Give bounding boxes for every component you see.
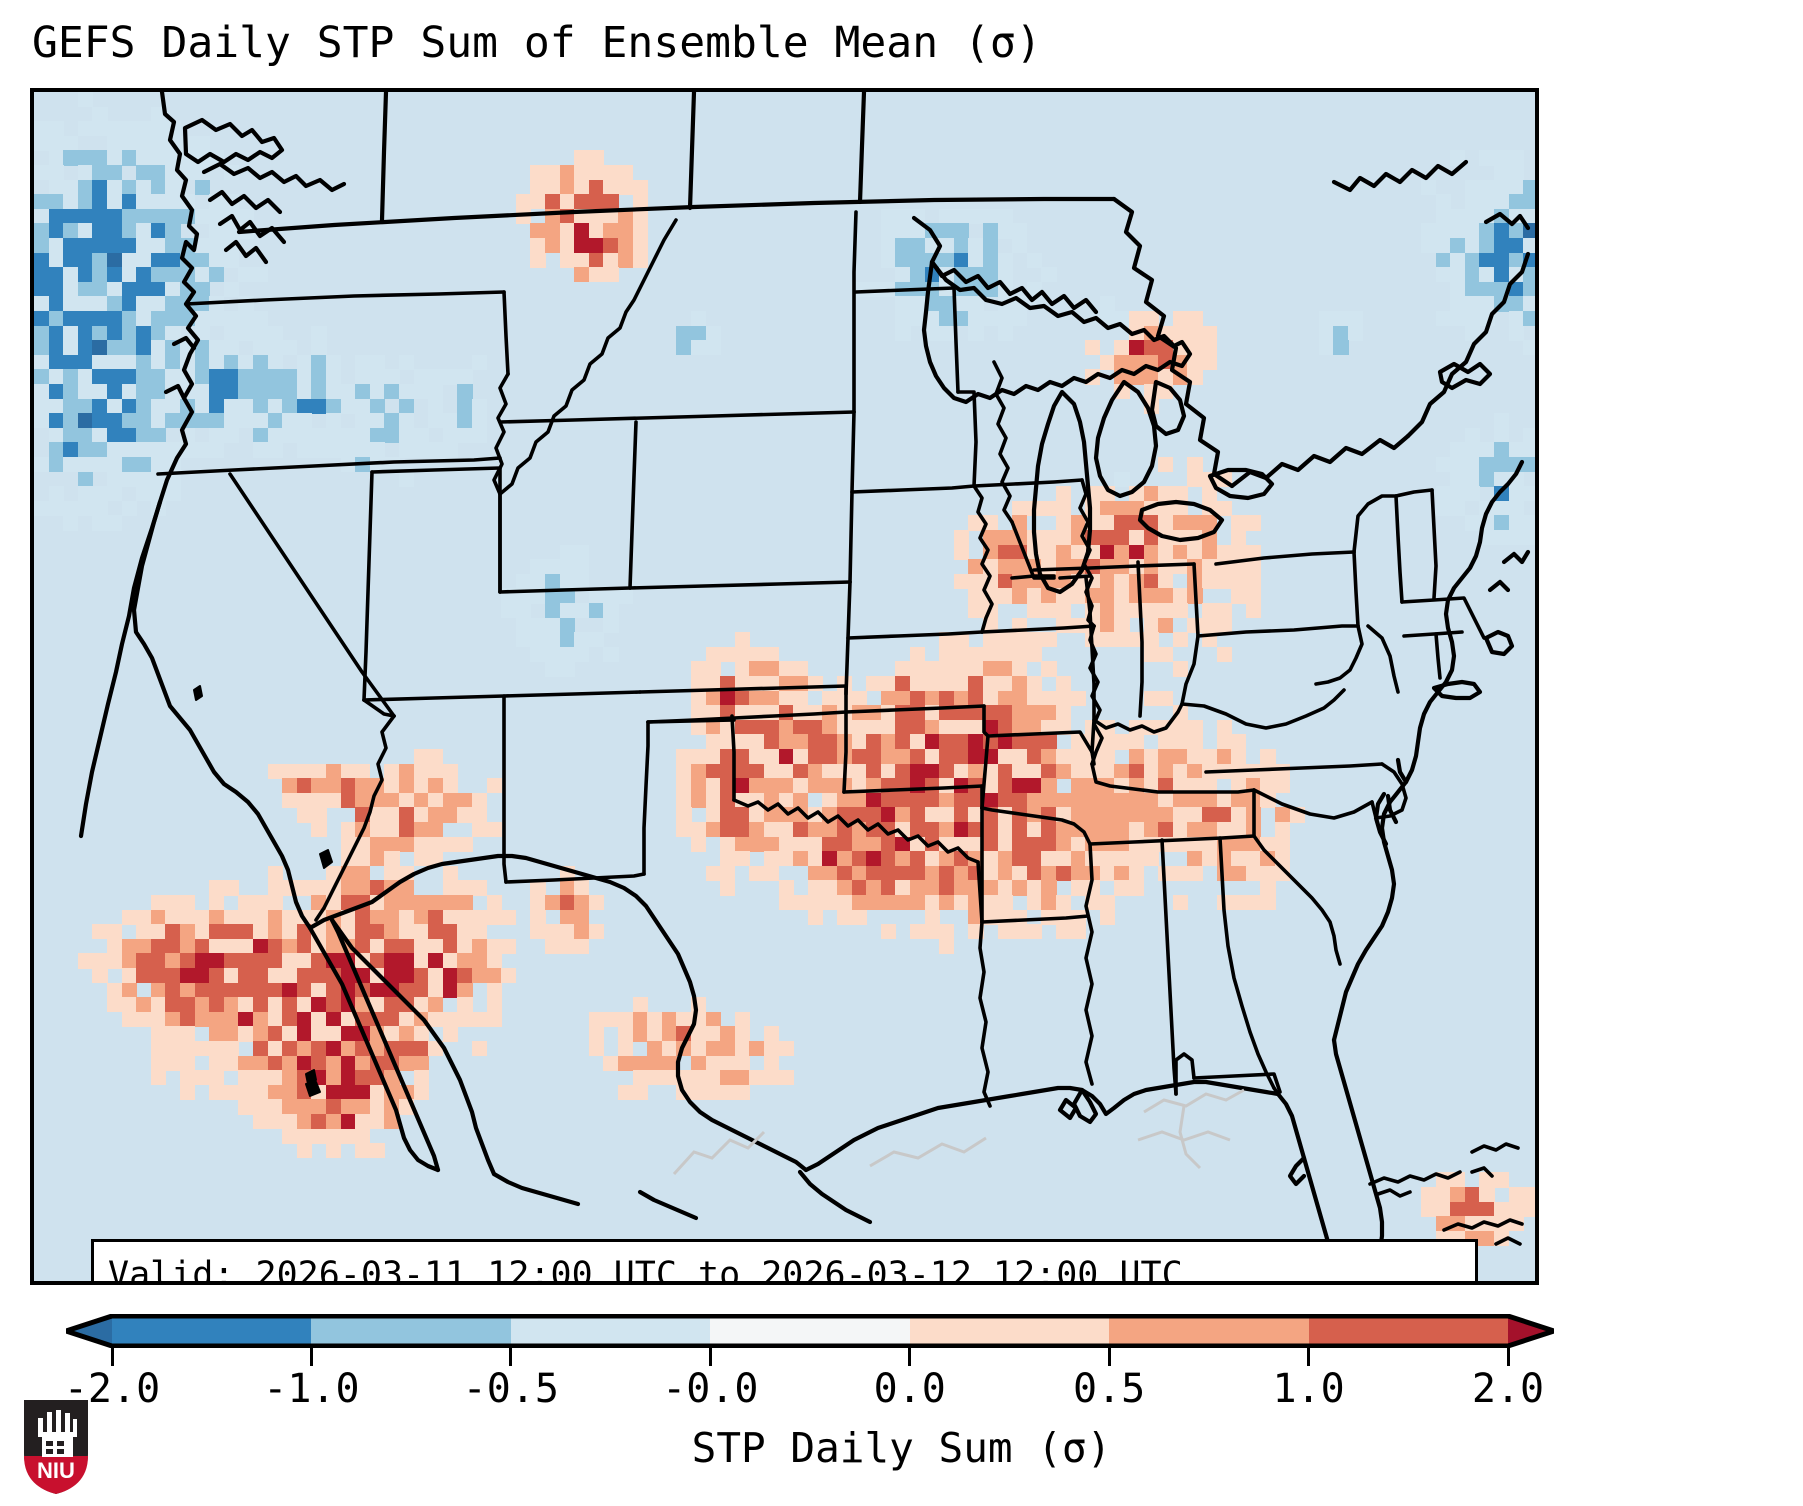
colorbar-tick-label-5: 0.5 — [1073, 1366, 1145, 1412]
colorbar-tick-label-1: -1.0 — [263, 1366, 359, 1412]
colorbar-tick-label-4: 0.0 — [874, 1366, 946, 1412]
map-clip: Valid: 2026-03-11 12:00 UTC to 2026-03-1… — [34, 92, 1535, 1281]
colorbar-ticks — [40, 1346, 1540, 1366]
colorbar-tick-2 — [509, 1346, 512, 1366]
colorbar-band-2 — [511, 1316, 710, 1346]
colorbar-tick-label-6: 1.0 — [1272, 1366, 1344, 1412]
colorbar[interactable] — [40, 1316, 1540, 1350]
colorbar-tick-3 — [709, 1346, 712, 1366]
colorbar-axis-label: STP Daily Sum (σ) — [0, 1424, 1803, 1472]
page-title: GEFS Daily STP Sum of Ensemble Mean (σ) — [32, 18, 1042, 68]
colorbar-band-4 — [910, 1316, 1109, 1346]
colorbar-band-1 — [311, 1316, 510, 1346]
colorbar-tick-1 — [310, 1346, 313, 1366]
colorbar-bands — [112, 1316, 1508, 1346]
colorbar-tick-label-2: -0.5 — [463, 1366, 559, 1412]
annotation-box: Valid: 2026-03-11 12:00 UTC to 2026-03-1… — [91, 1239, 1478, 1281]
colorbar-tick-5 — [1108, 1346, 1111, 1366]
colorbar-tick-0 — [111, 1346, 114, 1366]
colorbar-tick-4 — [908, 1346, 911, 1366]
colorbar-tick-7 — [1507, 1346, 1510, 1366]
geography-layer — [34, 92, 1535, 1281]
niu-shield-logo: NIU — [20, 1396, 92, 1496]
valid-time-line: Valid: 2026-03-11 12:00 UTC to 2026-03-1… — [108, 1252, 1475, 1281]
colorbar-band-5 — [1109, 1316, 1308, 1346]
colorbar-tick-label-3: -0.0 — [662, 1366, 758, 1412]
coastlines-and-borders — [81, 92, 1528, 1281]
colorbar-extend-low-arrow — [66, 1316, 112, 1346]
map-outlines-svg — [34, 92, 1535, 1281]
colorbar-tick-label-7: 2.0 — [1472, 1366, 1544, 1412]
colorbar-band-0 — [112, 1316, 311, 1346]
colorbar-band-6 — [1309, 1316, 1508, 1346]
colorbar-tick-labels: -2.0-1.0-0.5-0.00.00.51.02.0 — [0, 1366, 1580, 1416]
colorbar-extend-high-arrow — [1508, 1316, 1554, 1346]
colorbar-band-3 — [710, 1316, 909, 1346]
niu-logo-text: NIU — [37, 1458, 75, 1483]
colorbar-tick-6 — [1307, 1346, 1310, 1366]
map-panel: Valid: 2026-03-11 12:00 UTC to 2026-03-1… — [30, 88, 1539, 1285]
